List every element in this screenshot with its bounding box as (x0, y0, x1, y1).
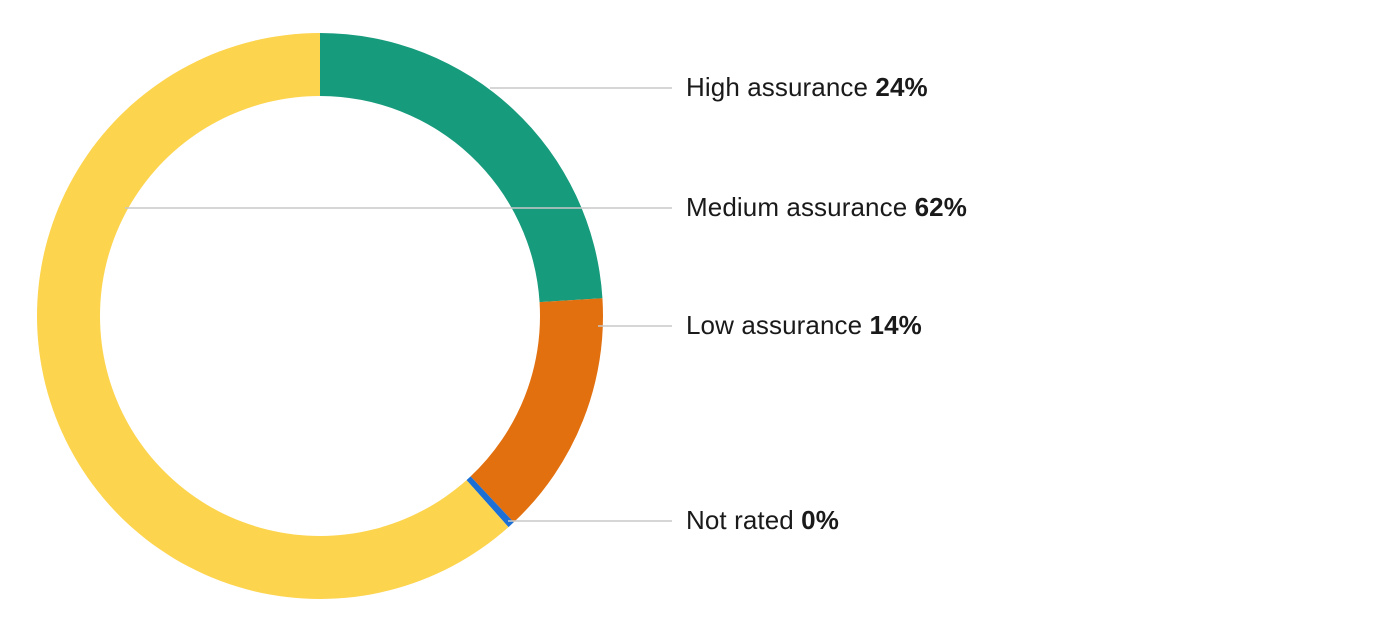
callout-label-not-rated: Not rated 0% (686, 507, 839, 533)
callout-label-text-high-assurance: High assurance (686, 72, 875, 102)
callout-label-text-medium-assurance: Medium assurance (686, 192, 915, 222)
callout-label-value-low-assurance: 14% (870, 310, 922, 340)
callout-label-text-not-rated: Not rated (686, 505, 801, 535)
donut-slice-group (37, 33, 603, 599)
callout-label-medium-assurance: Medium assurance 62% (686, 194, 967, 220)
callout-label-value-high-assurance: 24% (875, 72, 927, 102)
callout-label-low-assurance: Low assurance 14% (686, 312, 922, 338)
callout-label-high-assurance: High assurance 24% (686, 74, 928, 100)
callout-label-text-low-assurance: Low assurance (686, 310, 870, 340)
donut-chart: High assurance 24%Medium assurance 62%Lo… (0, 0, 1378, 644)
callout-label-value-medium-assurance: 62% (915, 192, 967, 222)
callout-label-value-not-rated: 0% (801, 505, 839, 535)
donut-slice-low-assurance[interactable] (471, 298, 603, 522)
donut-slice-high-assurance[interactable] (320, 33, 602, 302)
